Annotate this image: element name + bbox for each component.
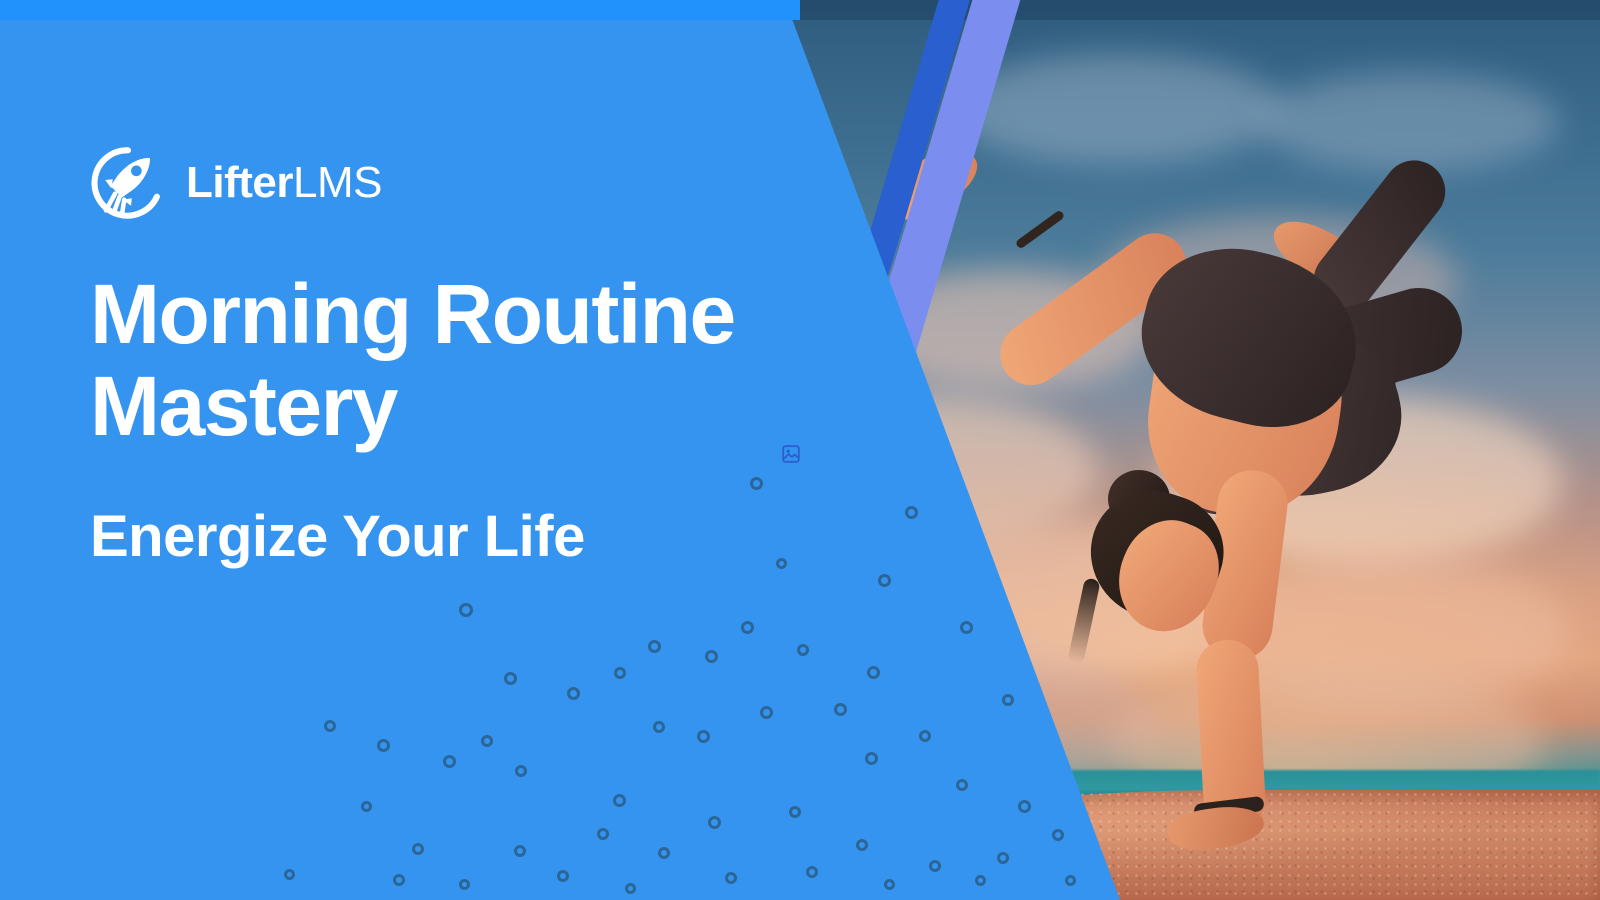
brand-name: LifterLMS xyxy=(186,161,382,205)
anklet xyxy=(1015,209,1066,249)
page-title: Morning Routine Mastery xyxy=(90,268,850,453)
broken-image-placeholder-icon xyxy=(780,443,802,465)
hair-strand xyxy=(1067,577,1101,664)
photo-top-scrim xyxy=(790,0,1600,20)
rocket-in-circle-icon xyxy=(90,145,166,221)
course-promo-banner: LifterLMS Morning Routine Mastery Energi… xyxy=(0,0,1600,900)
banner-content: LifterLMS Morning Routine Mastery Energi… xyxy=(90,0,870,900)
page-subtitle: Energize Your Life xyxy=(90,505,850,569)
brand-name-light: LMS xyxy=(293,158,382,207)
brand-name-bold: Lifter xyxy=(186,158,293,207)
hand xyxy=(1166,802,1267,855)
brand-logo[interactable]: LifterLMS xyxy=(90,145,382,221)
